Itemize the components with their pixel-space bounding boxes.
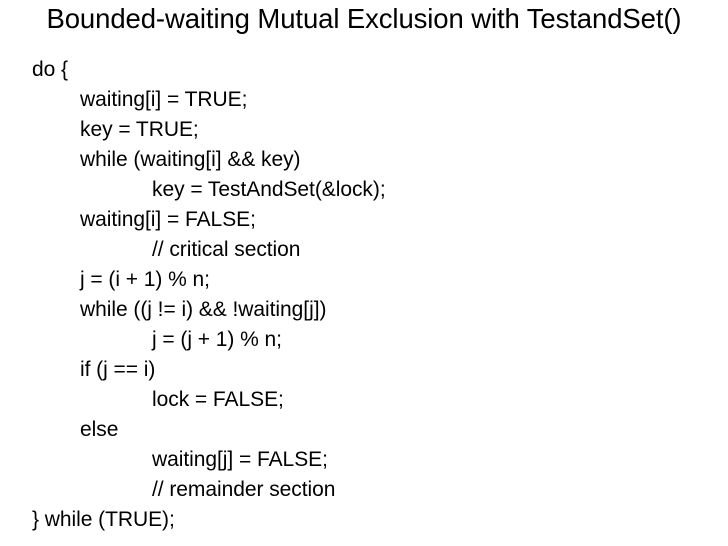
code-line: waiting[i] = TRUE; [0, 85, 728, 115]
code-line: lock = FALSE; [0, 385, 728, 415]
code-line: waiting[j] = FALSE; [0, 445, 728, 475]
code-line: j = (j + 1) % n; [0, 325, 728, 355]
code-line: while ((j != i) && !waiting[j]) [0, 295, 728, 325]
code-line: while (waiting[i] && key) [0, 145, 728, 175]
code-line: key = TestAndSet(&lock); [0, 175, 728, 205]
code-line: waiting[i] = FALSE; [0, 205, 728, 235]
code-line: } while (TRUE); [0, 505, 728, 535]
code-line: if (j == i) [0, 355, 728, 385]
code-line: // critical section [0, 235, 728, 265]
code-line: key = TRUE; [0, 115, 728, 145]
code-line: // remainder section [0, 475, 728, 505]
code-line: else [0, 415, 728, 445]
page-title: Bounded-waiting Mutual Exclusion with Te… [0, 2, 728, 36]
code-block: do {waiting[i] = TRUE;key = TRUE;while (… [0, 55, 728, 535]
code-line: do { [0, 55, 728, 85]
slide-canvas: Bounded-waiting Mutual Exclusion with Te… [0, 0, 728, 546]
code-line: j = (i + 1) % n; [0, 265, 728, 295]
